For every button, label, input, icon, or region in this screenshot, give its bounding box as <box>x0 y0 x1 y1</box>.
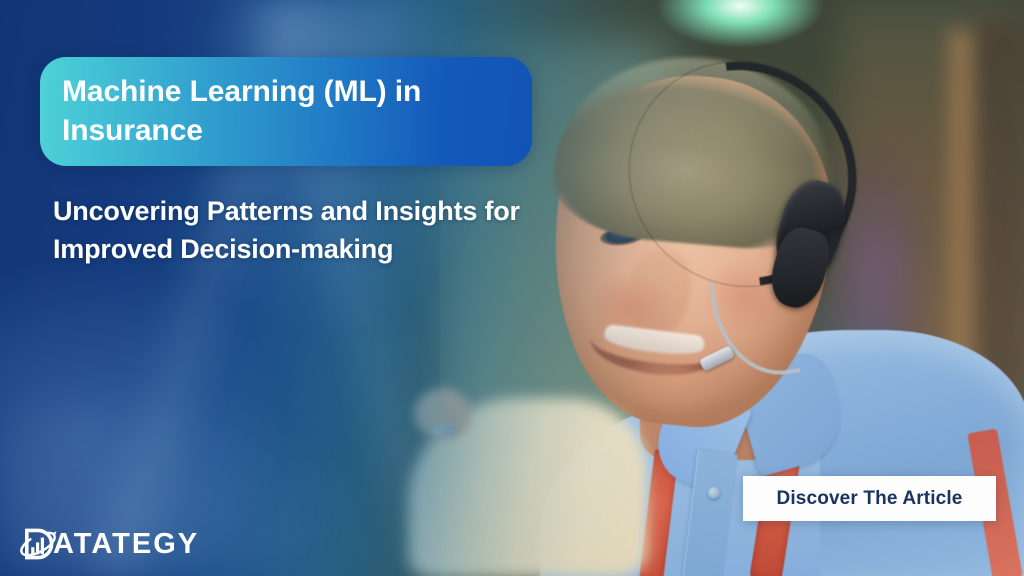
datategy-d-chart-orbit-icon <box>18 524 58 564</box>
hero-subtitle: Uncovering Patterns and Insights for Imp… <box>53 192 573 268</box>
cta-label: Discover The Article <box>776 488 962 510</box>
hero-banner: Machine Learning (ML) in Insurance Uncov… <box>0 0 1024 576</box>
discover-the-article-button[interactable]: Discover The Article <box>743 476 996 521</box>
datategy-wordmark: ATATEGY <box>53 530 199 559</box>
hero-content: Machine Learning (ML) in Insurance Uncov… <box>0 0 1024 576</box>
datategy-logo[interactable]: ATATEGY <box>18 524 199 564</box>
title-badge: Machine Learning (ML) in Insurance <box>40 57 532 166</box>
page-title: Machine Learning (ML) in Insurance <box>62 72 506 150</box>
